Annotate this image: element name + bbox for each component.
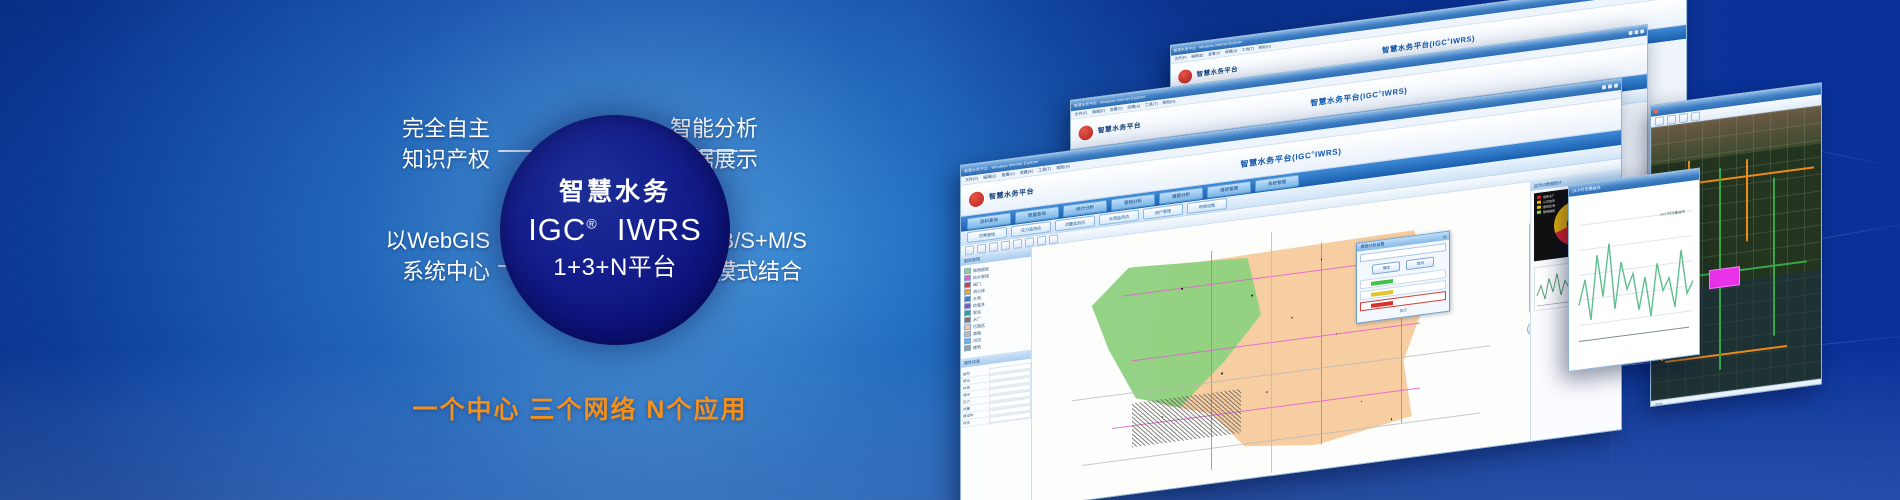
menu-item-edit[interactable]: 编辑(E) (983, 173, 996, 181)
menu-item-edit[interactable]: 编辑(E) (1092, 108, 1105, 115)
zoom-in-icon[interactable] (1655, 116, 1664, 126)
layer-swatch-icon (964, 289, 971, 296)
menu-item-edit[interactable]: 编辑(E) (1191, 53, 1203, 60)
menu-item-file[interactable]: 文件(F) (965, 176, 978, 184)
system-title-main: 智慧水务平台(IGC (1240, 150, 1311, 168)
line-chart-series (1579, 233, 1693, 326)
dialog-body: 确定 取消 执行 (1357, 240, 1449, 323)
line-chart-svg (1569, 180, 1699, 371)
analysis-dialog[interactable]: 爆管分析设置 ✕ 确定 取消 执行 (1356, 231, 1450, 324)
banner-root: 完全自主 知识产权 以WebGIS 系统中心 智能分析 数据展示 C/S+B/S… (0, 0, 1900, 500)
menu-item-tools[interactable]: 工具(T) (1038, 166, 1051, 174)
tagline: 一个中心 三个网络 N个应用 (300, 390, 860, 426)
label-top-left: 完全自主 知识产权 (300, 113, 490, 175)
legend-swatch-icon (1371, 279, 1393, 286)
layer-swatch-icon (964, 303, 971, 310)
layer-swatch-icon (964, 275, 971, 282)
label-top-left-line2: 知识产权 (300, 144, 490, 175)
close-icon[interactable] (1614, 83, 1618, 88)
property-table: 编号 管径 材质 埋深 压力 流量 建设年 状态 (961, 363, 1031, 428)
circle-product-igc: IGC (528, 212, 586, 247)
label-top-left-line1: 完全自主 (300, 113, 490, 144)
layer-swatch-icon (964, 345, 971, 352)
layer-swatch-icon (964, 296, 971, 303)
legend-swatch-icon (1537, 201, 1541, 205)
layer-swatch-icon (964, 268, 971, 275)
layer-swatch-icon (964, 317, 971, 324)
measure-icon[interactable] (1691, 111, 1700, 121)
menu-item-tools[interactable]: 工具(T) (1145, 101, 1158, 108)
window-controls[interactable] (1629, 29, 1644, 35)
donut-legend: 自来水厂 二次加压 直供区域 管网漏损 (1537, 194, 1555, 217)
zoom-out-icon[interactable] (1001, 240, 1010, 250)
menu-item-favorites[interactable]: 收藏(A) (1020, 168, 1033, 176)
legend-swatch-icon (1537, 196, 1541, 200)
menu-item-view[interactable]: 查看(V) (1208, 50, 1220, 57)
map-vertical-scrollbar[interactable] (1529, 221, 1530, 314)
maximize-icon[interactable] (1608, 84, 1612, 89)
layer-swatch-icon (964, 282, 971, 289)
window-controls[interactable] (1602, 83, 1618, 89)
circle-product-name: IGC® IWRS (528, 210, 702, 250)
screenshot-stack: 智慧水务平台 - Windows Internet Explorer 文件(F)… (960, 45, 1900, 445)
system-title-tail: IWRS) (1382, 86, 1408, 98)
circle-title: 智慧水务 (559, 177, 671, 208)
pipe-line (1321, 242, 1322, 444)
print-icon[interactable] (1049, 234, 1058, 244)
pipe-line (1211, 251, 1212, 470)
select-icon[interactable] (965, 245, 974, 255)
layer-tree[interactable]: 管网图层 给水管线 阀门 消火栓 水表 检查井 泵站 水厂 行政区 道路 河流 … (961, 257, 1031, 356)
layer-swatch-icon (964, 310, 971, 317)
maximize-icon[interactable] (1634, 29, 1638, 33)
system-title-main: 智慧水务平台(IGC (1310, 90, 1378, 108)
zoom-out-icon[interactable] (1667, 114, 1676, 124)
road-line (1271, 232, 1272, 472)
app-window-front[interactable]: 智慧水务平台 - Windows Internet Explorer 文件(F)… (960, 78, 1622, 500)
center-circle-badge: 智慧水务 IGC® IWRS 1+3+N平台 (500, 115, 730, 345)
registered-mark-icon: ® (586, 216, 597, 232)
measure-icon[interactable] (1037, 235, 1046, 245)
layer-swatch-icon (964, 338, 971, 345)
pipe-node (1181, 288, 1183, 290)
circle-product-iwrs: IWRS (617, 212, 702, 247)
label-bottom-left-line1: 以WebGIS (300, 225, 490, 256)
layer-swatch-icon (964, 324, 971, 331)
menu-item-tools[interactable]: 工具(T) (1242, 46, 1254, 53)
line-chart-canvas: 24小时流量曲线 (1569, 180, 1699, 371)
layer-swatch-icon (964, 331, 971, 338)
menu-item-view[interactable]: 查看(V) (1110, 106, 1123, 113)
system-title-tail: IWRS) (1451, 34, 1475, 45)
close-icon[interactable] (1640, 29, 1644, 33)
status-text: 完成 (1655, 402, 1662, 407)
legend-swatch-icon (1537, 211, 1541, 215)
road-line-green (1773, 177, 1775, 336)
minimize-icon[interactable] (1602, 84, 1606, 89)
close-icon[interactable] (1654, 108, 1658, 113)
cancel-button[interactable]: 取消 (1406, 257, 1434, 271)
menu-item-help[interactable]: 帮助(H) (1259, 44, 1271, 51)
menu-item-favorites[interactable]: 收藏(A) (1127, 103, 1140, 110)
road-line-orange (1746, 159, 1748, 241)
legend-item: 管网漏损 (1537, 209, 1555, 216)
menu-item-view[interactable]: 查看(V) (1001, 171, 1014, 179)
label-bottom-left: 以WebGIS 系统中心 (300, 225, 490, 287)
zoom-in-icon[interactable] (989, 241, 998, 251)
menu-item-file[interactable]: 文件(F) (1075, 110, 1088, 117)
circle-platform-label: 1+3+N平台 (553, 252, 677, 283)
pipe-node (1221, 373, 1223, 375)
menu-item-help[interactable]: 帮助(H) (1056, 164, 1070, 172)
system-title-tail: IWRS) (1315, 146, 1342, 158)
label-bottom-left-line2: 系统中心 (300, 256, 490, 287)
pan-icon[interactable] (1679, 112, 1688, 122)
concept-diagram: 完全自主 知识产权 以WebGIS 系统中心 智能分析 数据展示 C/S+B/S… (300, 95, 860, 385)
confirm-button[interactable]: 确定 (1372, 261, 1400, 275)
left-panel: 图层管理 管网图层 给水管线 阀门 消火栓 水表 检查井 泵站 水厂 行政区 道… (961, 248, 1032, 500)
menu-item-favorites[interactable]: 收藏(A) (1225, 48, 1237, 55)
pan-icon[interactable] (977, 243, 986, 253)
legend-swatch-icon (1371, 290, 1393, 297)
window-controls[interactable] (1654, 108, 1658, 113)
full-extent-icon[interactable] (1013, 238, 1022, 248)
dialog-close-icon[interactable]: ✕ (1443, 234, 1446, 239)
app-window-line-chart[interactable]: 24小时流量曲线 24小时流量曲线 (1568, 168, 1700, 372)
legend-swatch-icon (1371, 301, 1393, 308)
pipe-node (1251, 295, 1253, 297)
menu-item-file[interactable]: 文件(F) (1175, 55, 1187, 62)
minimize-icon[interactable] (1629, 30, 1633, 34)
identify-icon[interactable] (1025, 237, 1034, 247)
legend-swatch-icon (1537, 206, 1541, 210)
menu-item-help[interactable]: 帮助(H) (1162, 99, 1175, 106)
